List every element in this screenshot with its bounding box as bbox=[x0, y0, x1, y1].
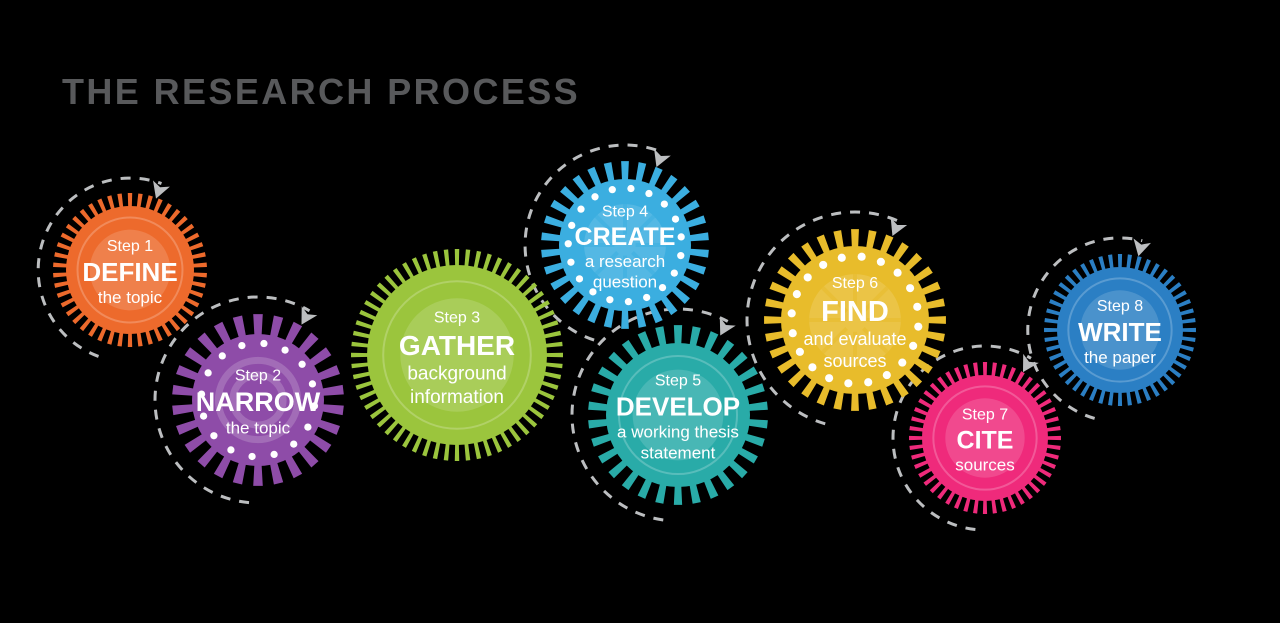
step-description-line: the topic bbox=[98, 288, 163, 307]
gear-rim-dot bbox=[789, 329, 797, 337]
gear-rim-dot bbox=[661, 200, 668, 207]
step-verb: WRITE bbox=[1078, 317, 1162, 347]
step-number: Step 2 bbox=[235, 368, 281, 385]
step-description-line: the paper bbox=[1084, 348, 1156, 367]
gear-rim-dot bbox=[260, 340, 267, 347]
gear-rim-dot bbox=[281, 346, 288, 353]
gear-rim-dot bbox=[672, 215, 679, 222]
gear-rim-dot bbox=[883, 371, 891, 379]
step-description-line: and evaluate bbox=[803, 329, 906, 349]
step-description-line: information bbox=[410, 387, 504, 408]
gear-rim-dot bbox=[909, 342, 917, 350]
gear-rim-dot bbox=[808, 363, 816, 371]
step-description-line: question bbox=[593, 273, 657, 292]
gear-rim-dot bbox=[270, 451, 277, 458]
step-number: Step 4 bbox=[602, 203, 648, 220]
gear-rim-dot bbox=[804, 273, 812, 281]
step-description-line: a working thesis bbox=[617, 423, 739, 442]
gear-rim-dot bbox=[591, 193, 598, 200]
gear-rim-dot bbox=[567, 259, 574, 266]
gear-rim-dot bbox=[864, 378, 872, 386]
gear-rim-dot bbox=[877, 258, 885, 266]
gear-rim-dot bbox=[825, 374, 833, 382]
step-description-line: background bbox=[407, 364, 506, 385]
gear-rim-dot bbox=[671, 269, 678, 276]
gear-rim-dot bbox=[238, 342, 245, 349]
gear-rim-dot bbox=[844, 379, 852, 387]
gear-rim-dot bbox=[788, 309, 796, 317]
step-description-line: a research bbox=[585, 252, 665, 271]
gear-rim-dot bbox=[894, 269, 902, 277]
gear-rim-dot bbox=[819, 261, 827, 269]
gear-rim-dot bbox=[625, 298, 632, 305]
step-7-cite-label: Step 7CITEsources bbox=[955, 407, 1015, 475]
research-process-gear-diagram: Step 1DEFINEthe topicStep 2NARROWthe top… bbox=[0, 0, 1280, 623]
step-verb: NARROW bbox=[196, 387, 321, 417]
step-description-line: statement bbox=[641, 443, 716, 462]
gear-rim-dot bbox=[793, 290, 801, 298]
step-verb: CITE bbox=[957, 426, 1014, 454]
gear-rim-dot bbox=[576, 275, 583, 282]
gear-rim-dot bbox=[606, 296, 613, 303]
gear-rim-dot bbox=[913, 303, 921, 311]
gear-rim-dot bbox=[219, 352, 226, 359]
gear-rim-dot bbox=[643, 294, 650, 301]
gear-rim-dot bbox=[248, 453, 255, 460]
infographic-canvas: THE RESEARCH PROCESS Step 1DEFINEthe top… bbox=[0, 0, 1280, 623]
step-number: Step 1 bbox=[107, 238, 153, 255]
gear-rim-dot bbox=[796, 348, 804, 356]
gear-rim-dot bbox=[304, 423, 311, 430]
gear-rim-dot bbox=[858, 253, 866, 261]
gear-rim-dot bbox=[906, 284, 914, 292]
gear-rim-dot bbox=[677, 252, 684, 259]
gear-rim-dot bbox=[204, 369, 211, 376]
gear-rim-dot bbox=[898, 359, 906, 367]
step-description-line: sources bbox=[955, 455, 1015, 474]
arrow-head bbox=[648, 149, 671, 171]
step-verb: FIND bbox=[821, 296, 889, 328]
gear-rim-dot bbox=[577, 206, 584, 213]
arrow-head bbox=[1130, 239, 1151, 259]
gear-rim-dot bbox=[609, 186, 616, 193]
step-number: Step 5 bbox=[655, 373, 701, 390]
step-description-line: sources bbox=[823, 351, 886, 371]
gear-rim-dot bbox=[645, 190, 652, 197]
step-verb: DEFINE bbox=[82, 257, 177, 287]
step-number: Step 7 bbox=[962, 407, 1008, 424]
gear-rim-dot bbox=[565, 240, 572, 247]
step-number: Step 8 bbox=[1097, 298, 1143, 315]
step-description-line: the topic bbox=[226, 418, 291, 437]
gear-rim-dot bbox=[627, 185, 634, 192]
gear-rim-dot bbox=[838, 254, 846, 262]
gear-rim-dot bbox=[659, 284, 666, 291]
step-number: Step 6 bbox=[832, 275, 878, 292]
gear-rim-dot bbox=[290, 440, 297, 447]
gear-rim-dot bbox=[227, 446, 234, 453]
gear-rim-dot bbox=[210, 432, 217, 439]
step-verb: CREATE bbox=[575, 223, 676, 251]
step-verb: GATHER bbox=[399, 330, 515, 361]
step-number: Step 3 bbox=[434, 309, 480, 326]
gear-rim-dot bbox=[914, 323, 922, 331]
gear-rim-dot bbox=[678, 233, 685, 240]
gear-rim-dot bbox=[298, 361, 305, 368]
step-verb: DEVELOP bbox=[616, 391, 740, 421]
